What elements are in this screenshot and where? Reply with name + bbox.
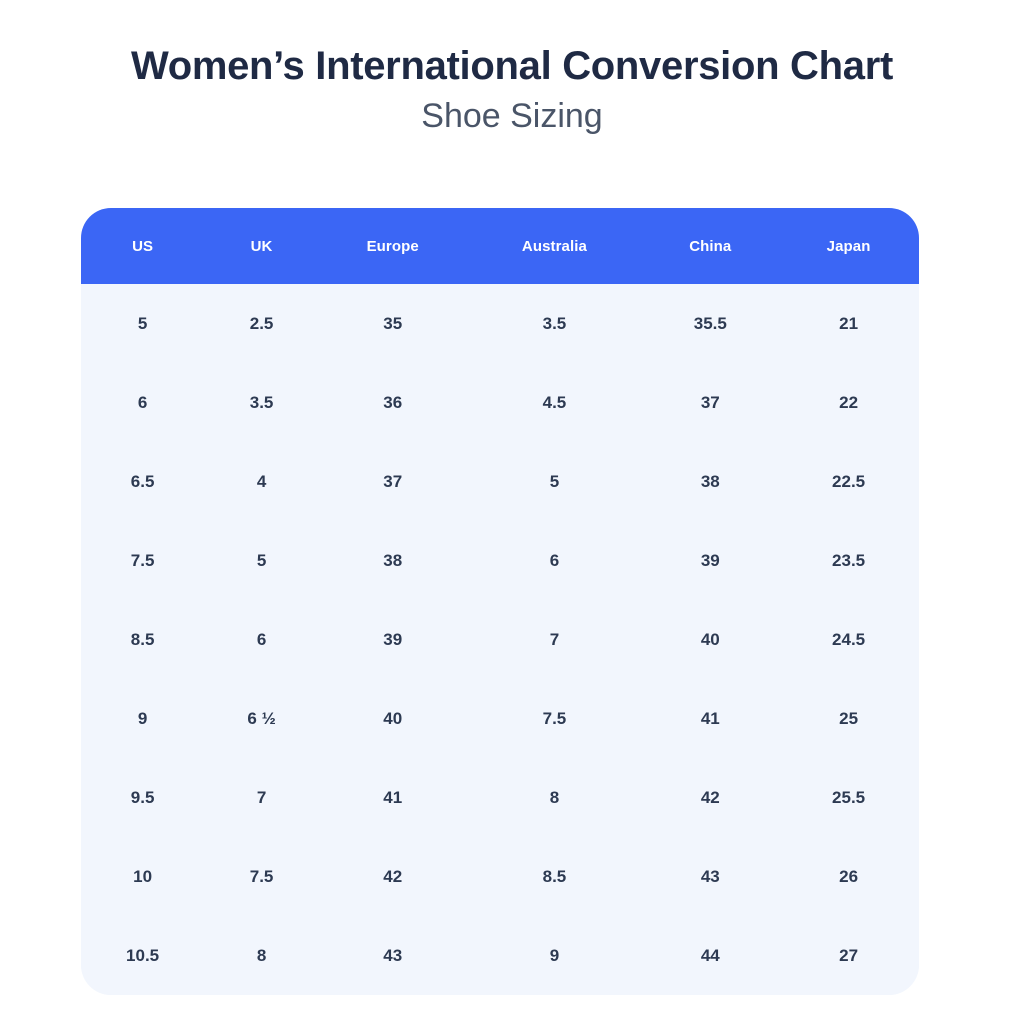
table-row: 10 7.5 42 8.5 43 26: [81, 837, 919, 916]
cell-europe: 43: [319, 916, 466, 995]
cell-us: 9: [81, 679, 204, 758]
table-row: 9.5 7 41 8 42 25.5: [81, 758, 919, 837]
cell-us: 6: [81, 363, 204, 442]
page-title: Women’s International Conversion Chart: [0, 44, 1024, 90]
cell-europe: 36: [319, 363, 466, 442]
table-header: US UK Europe Australia China Japan: [81, 208, 919, 284]
cell-china: 43: [642, 837, 778, 916]
table-body: 5 2.5 35 3.5 35.5 21 6 3.5 36 4.5 37 22 …: [81, 284, 919, 995]
cell-uk: 6 ½: [204, 679, 319, 758]
table-row: 8.5 6 39 7 40 24.5: [81, 600, 919, 679]
cell-us: 7.5: [81, 521, 204, 600]
cell-japan: 26: [778, 837, 919, 916]
size-conversion-table-card: US UK Europe Australia China Japan 5 2.5…: [81, 208, 919, 995]
cell-europe: 37: [319, 442, 466, 521]
cell-china: 44: [642, 916, 778, 995]
table-row: 6.5 4 37 5 38 22.5: [81, 442, 919, 521]
cell-australia: 5: [466, 442, 642, 521]
cell-japan: 24.5: [778, 600, 919, 679]
cell-japan: 22.5: [778, 442, 919, 521]
column-header-us: US: [81, 208, 204, 284]
column-header-japan: Japan: [778, 208, 919, 284]
cell-europe: 39: [319, 600, 466, 679]
cell-australia: 3.5: [466, 284, 642, 363]
cell-australia: 8: [466, 758, 642, 837]
cell-japan: 23.5: [778, 521, 919, 600]
cell-japan: 22: [778, 363, 919, 442]
cell-australia: 7.5: [466, 679, 642, 758]
cell-us: 9.5: [81, 758, 204, 837]
cell-europe: 38: [319, 521, 466, 600]
column-header-uk: UK: [204, 208, 319, 284]
cell-china: 39: [642, 521, 778, 600]
cell-china: 38: [642, 442, 778, 521]
shoe-size-chart-page: Women’s International Conversion Chart S…: [0, 0, 1024, 1024]
size-conversion-table: US UK Europe Australia China Japan 5 2.5…: [81, 208, 919, 995]
cell-uk: 8: [204, 916, 319, 995]
cell-australia: 8.5: [466, 837, 642, 916]
cell-us: 6.5: [81, 442, 204, 521]
cell-australia: 4.5: [466, 363, 642, 442]
table-header-row: US UK Europe Australia China Japan: [81, 208, 919, 284]
cell-japan: 21: [778, 284, 919, 363]
table-row: 7.5 5 38 6 39 23.5: [81, 521, 919, 600]
heading-block: Women’s International Conversion Chart S…: [0, 44, 1024, 136]
cell-uk: 3.5: [204, 363, 319, 442]
column-header-china: China: [642, 208, 778, 284]
cell-us: 5: [81, 284, 204, 363]
cell-uk: 4: [204, 442, 319, 521]
cell-europe: 41: [319, 758, 466, 837]
cell-europe: 40: [319, 679, 466, 758]
column-header-australia: Australia: [466, 208, 642, 284]
cell-japan: 27: [778, 916, 919, 995]
cell-uk: 6: [204, 600, 319, 679]
page-subtitle: Shoe Sizing: [0, 96, 1024, 136]
column-header-europe: Europe: [319, 208, 466, 284]
cell-china: 41: [642, 679, 778, 758]
cell-uk: 7.5: [204, 837, 319, 916]
cell-australia: 7: [466, 600, 642, 679]
cell-australia: 9: [466, 916, 642, 995]
table-row: 6 3.5 36 4.5 37 22: [81, 363, 919, 442]
table-row: 5 2.5 35 3.5 35.5 21: [81, 284, 919, 363]
cell-us: 10: [81, 837, 204, 916]
cell-europe: 35: [319, 284, 466, 363]
cell-us: 10.5: [81, 916, 204, 995]
cell-uk: 2.5: [204, 284, 319, 363]
cell-china: 35.5: [642, 284, 778, 363]
table-row: 9 6 ½ 40 7.5 41 25: [81, 679, 919, 758]
cell-australia: 6: [466, 521, 642, 600]
table-row: 10.5 8 43 9 44 27: [81, 916, 919, 995]
cell-europe: 42: [319, 837, 466, 916]
cell-uk: 7: [204, 758, 319, 837]
cell-china: 40: [642, 600, 778, 679]
cell-china: 42: [642, 758, 778, 837]
cell-japan: 25: [778, 679, 919, 758]
cell-us: 8.5: [81, 600, 204, 679]
cell-japan: 25.5: [778, 758, 919, 837]
cell-uk: 5: [204, 521, 319, 600]
cell-china: 37: [642, 363, 778, 442]
